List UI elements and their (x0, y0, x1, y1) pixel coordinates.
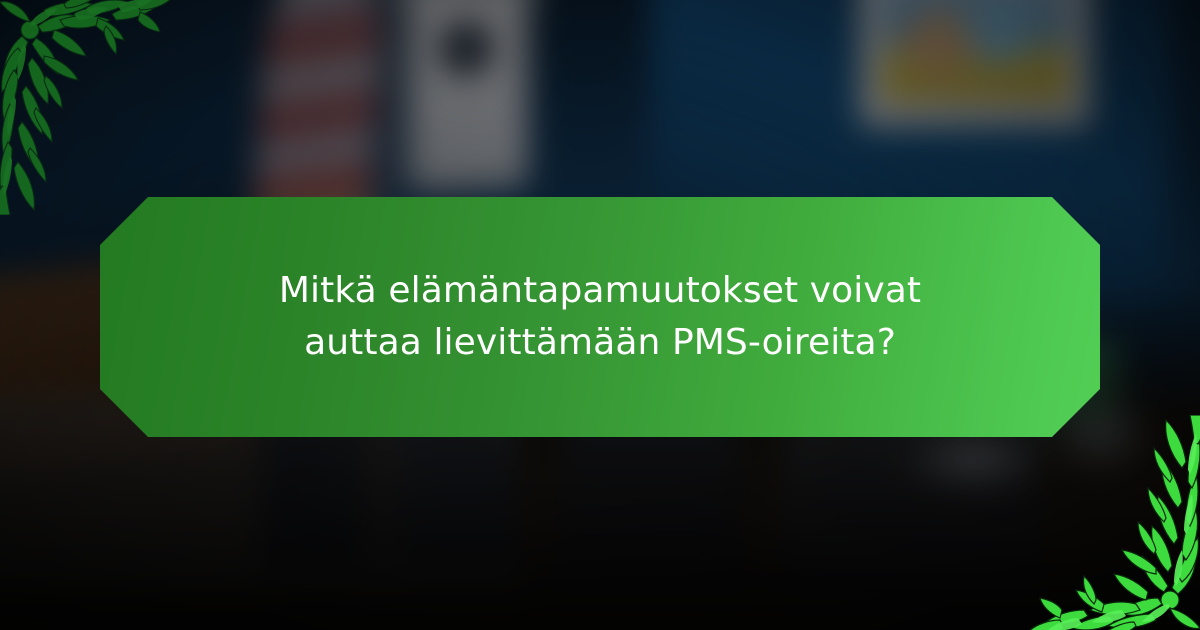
share-card: Mitkä elämäntapamuutokset voivat auttaa … (0, 0, 1200, 630)
headline-banner: Mitkä elämäntapamuutokset voivat auttaa … (100, 197, 1100, 437)
headline-text: Mitkä elämäntapamuutokset voivat auttaa … (220, 265, 980, 369)
